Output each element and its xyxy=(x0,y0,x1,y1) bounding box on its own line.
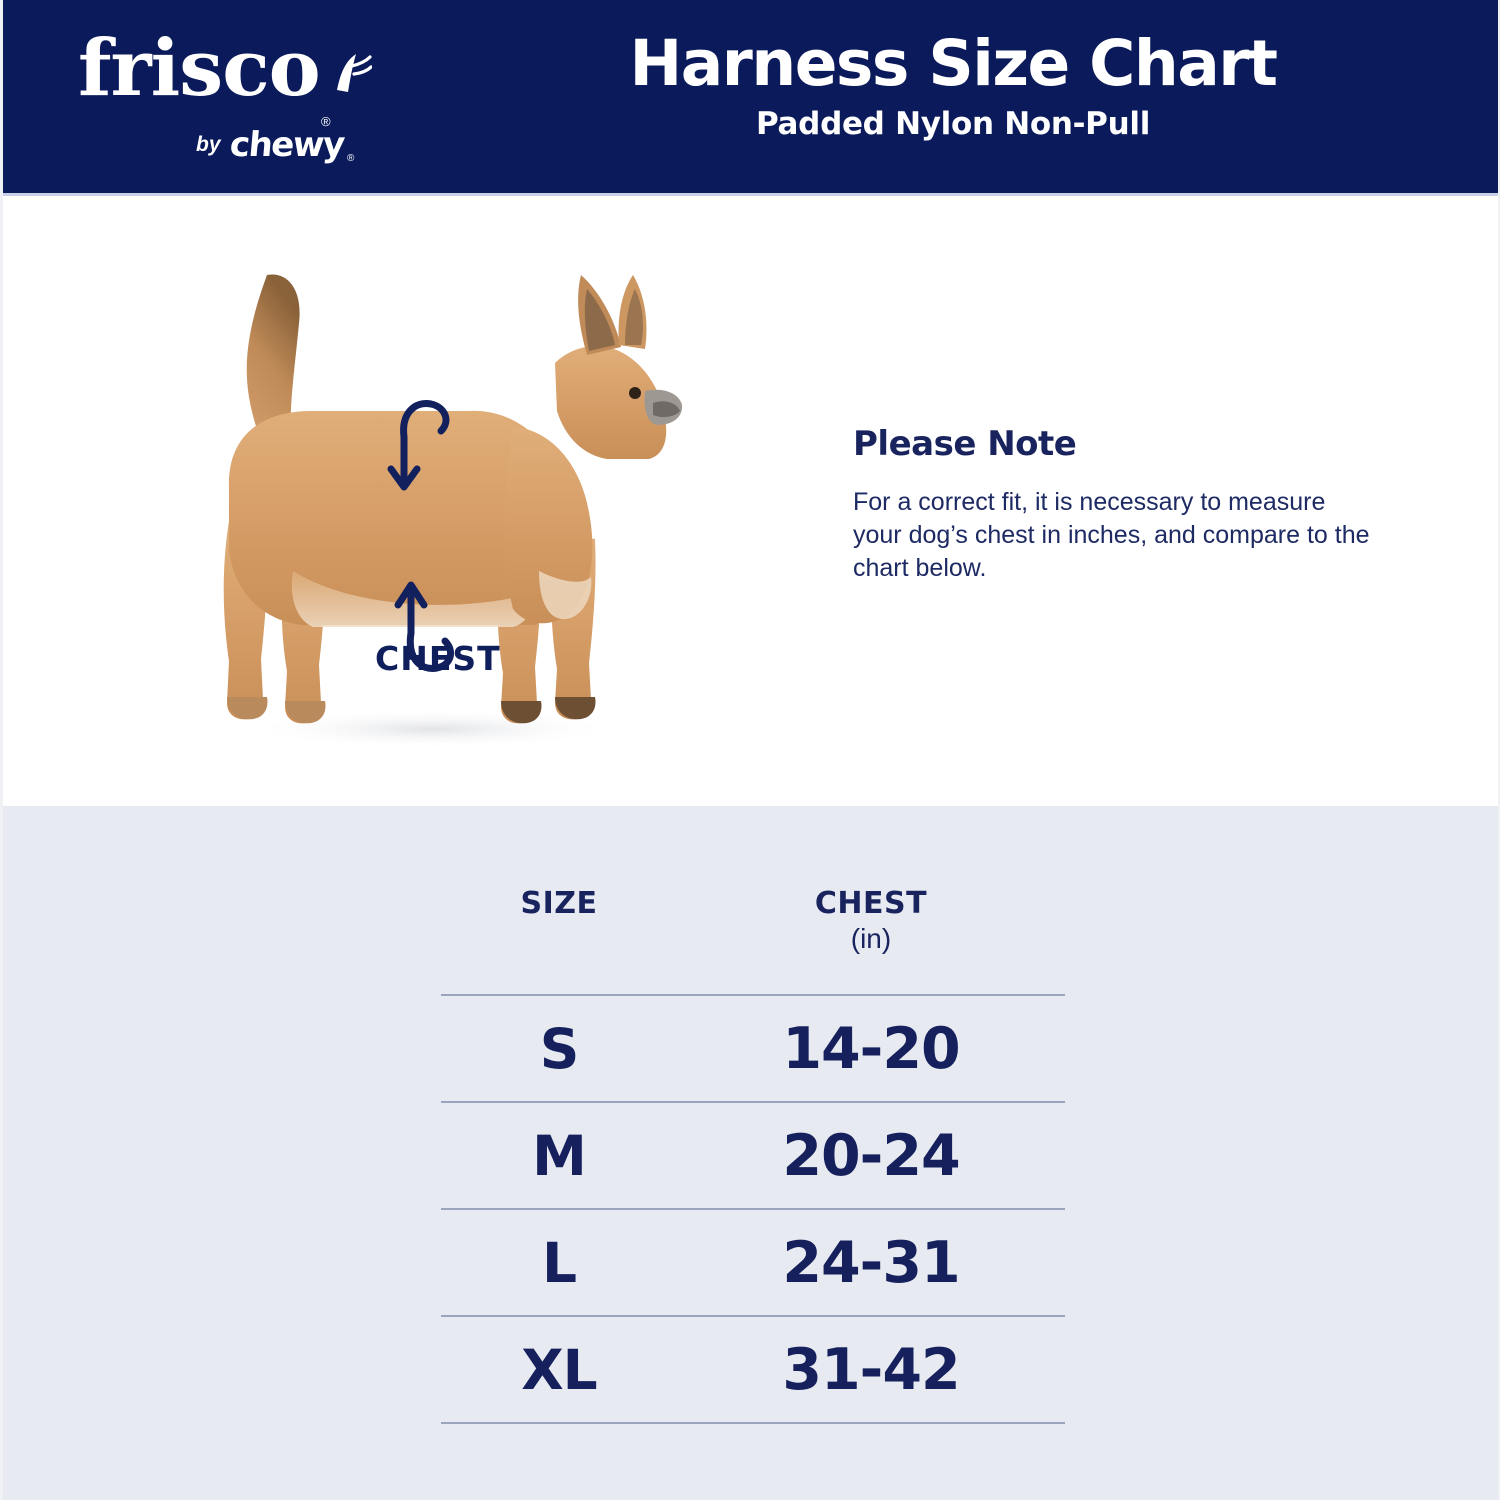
table-cell-size: M xyxy=(441,1124,677,1188)
header-title-block: Harness Size Chart Padded Nylon Non-Pull xyxy=(443,30,1463,142)
table-header-chest-unit: (in) xyxy=(677,923,1065,955)
size-table: SIZE CHEST (in) S 14-20 xyxy=(441,880,1065,1424)
chest-measurement-label: CHEST xyxy=(375,639,501,678)
please-note-body: For a correct fit, it is necessary to me… xyxy=(853,486,1373,585)
please-note-block: Please Note For a correct fit, it is nec… xyxy=(853,424,1373,585)
logo-byline-registered-mark: ® xyxy=(347,153,354,164)
table-row: L 24-31 xyxy=(441,1210,1065,1315)
table-row: M 20-24 xyxy=(441,1103,1065,1208)
table-cell-chest-value: 14-20 xyxy=(677,1016,1065,1082)
logo-byline-brand: chewy xyxy=(228,125,345,165)
table-cell-size-value: S xyxy=(441,1017,677,1081)
table-cell-chest: 24-31 xyxy=(677,1230,1065,1296)
page-subtitle: Padded Nylon Non-Pull xyxy=(443,106,1463,142)
table-header-chest: CHEST (in) xyxy=(677,880,1065,994)
table-cell-size-value: M xyxy=(441,1124,677,1188)
table-divider xyxy=(441,1422,1065,1424)
table-header-size-label: SIZE xyxy=(441,880,677,921)
table-cell-size-value: XL xyxy=(441,1338,677,1402)
table-cell-chest-value: 24-31 xyxy=(677,1230,1065,1296)
frisco-logo: frisco ® by chewy ® xyxy=(78,28,378,168)
size-table-section: SIZE CHEST (in) S 14-20 xyxy=(3,806,1498,1500)
frisco-swoosh-icon xyxy=(282,50,372,120)
table-cell-chest-value: 31-42 xyxy=(677,1337,1065,1403)
dog-illustration: CHEST xyxy=(183,241,683,761)
table-cell-chest-value: 20-24 xyxy=(677,1123,1065,1189)
illustration-section: CHEST Please Note For a correct fit, it … xyxy=(3,196,1498,806)
table-cell-chest: 31-42 xyxy=(677,1337,1065,1403)
table-header-size: SIZE xyxy=(441,880,677,994)
logo-byline-prefix: by xyxy=(196,133,221,157)
table-cell-chest: 14-20 xyxy=(677,1016,1065,1082)
page-header: frisco ® by chewy ® Harness Size Chart P… xyxy=(3,0,1498,193)
page-title: Harness Size Chart xyxy=(443,30,1463,98)
table-row: S 14-20 xyxy=(441,996,1065,1101)
please-note-heading: Please Note xyxy=(853,424,1373,464)
table-header-row: SIZE CHEST (in) xyxy=(441,880,1065,994)
table-cell-size: XL xyxy=(441,1338,677,1402)
table-row: XL 31-42 xyxy=(441,1317,1065,1422)
table-cell-size: L xyxy=(441,1231,677,1295)
table-cell-size: S xyxy=(441,1017,677,1081)
table-cell-size-value: L xyxy=(441,1231,677,1295)
dog-figure-icon xyxy=(183,241,683,761)
size-chart-page: frisco ® by chewy ® Harness Size Chart P… xyxy=(0,0,1500,1500)
table-cell-chest: 20-24 xyxy=(677,1123,1065,1189)
table-header-chest-label: CHEST xyxy=(677,880,1065,921)
